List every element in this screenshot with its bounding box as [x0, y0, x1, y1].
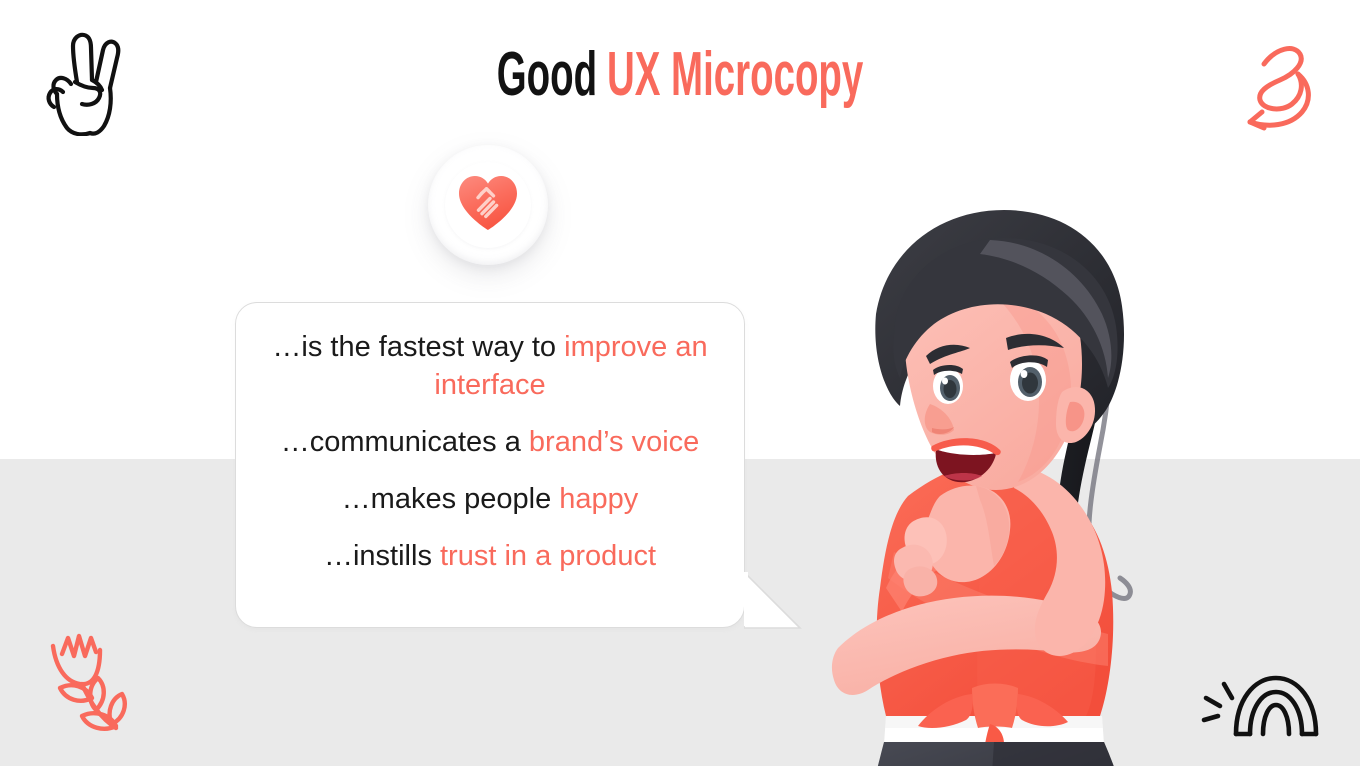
flower-icon: [38, 628, 144, 743]
icon-button-inner-disc: [445, 162, 531, 248]
heart-handshake-icon: [457, 174, 519, 237]
rainbow-icon: [1196, 658, 1324, 751]
page-title: GoodUX Microcopy: [258, 44, 1101, 106]
thinking-woman-illustration: [790, 196, 1190, 766]
heart-handshake-button[interactable]: [428, 145, 548, 265]
peace-hand-icon: [44, 30, 124, 141]
slide-canvas: GoodUX Microcopy: [0, 0, 1360, 766]
page-title-dark-part: Good: [497, 40, 597, 109]
speech-bubble: [235, 302, 745, 628]
curly-arrow-icon: [1232, 36, 1328, 147]
page-title-accent-part: UX Microcopy: [607, 40, 863, 109]
